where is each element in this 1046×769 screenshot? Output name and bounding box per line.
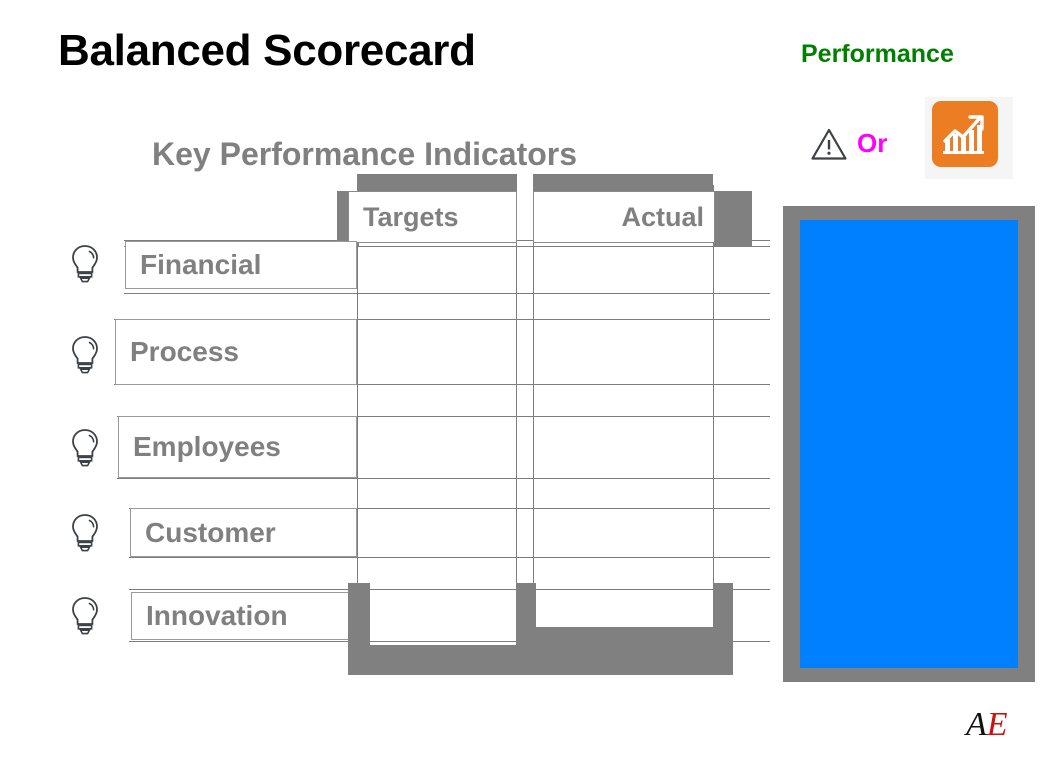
balanced-scorecard-slide: Balanced Scorecard Performance Key Perfo…: [0, 0, 1046, 769]
logo-letter-e: E: [987, 706, 1008, 743]
logo: AE: [966, 708, 1008, 742]
header-accent-bar-actual: [533, 174, 713, 191]
column-header-actual: Actual: [533, 191, 715, 243]
header-accent-bar-targets: [357, 174, 517, 191]
cell-employees-actual[interactable]: [533, 416, 713, 478]
lightbulb-icon: [70, 334, 100, 376]
blue-panel[interactable]: [800, 220, 1018, 668]
row-label-process: Process: [115, 319, 357, 385]
grid-line: [124, 293, 770, 294]
row-label-customer: Customer: [130, 508, 357, 557]
lightbulb-icon: [70, 512, 100, 554]
footer-accent-bar-inner: [536, 627, 713, 645]
cell-process-actual[interactable]: [533, 319, 713, 384]
cell-customer-targets[interactable]: [357, 508, 516, 557]
blue-panel-frame: [783, 206, 1035, 682]
header-accent-bar-right: [713, 191, 752, 247]
or-label: Or: [857, 128, 887, 159]
grid-line: [713, 185, 714, 641]
warning-triangle-icon: [810, 127, 848, 161]
grid-line: [117, 478, 770, 479]
cell-process-targets[interactable]: [357, 319, 516, 384]
grid-line: [129, 589, 770, 590]
performance-label: Performance: [801, 40, 954, 69]
column-header-targets: Targets: [348, 191, 517, 243]
cell-financial-targets[interactable]: [357, 246, 516, 293]
cell-customer-actual[interactable]: [533, 508, 713, 557]
grid-line: [516, 185, 517, 641]
growth-chart-icon[interactable]: [932, 101, 998, 167]
grid-line: [129, 557, 770, 558]
lightbulb-icon: [70, 427, 100, 469]
cell-innovation-targets[interactable]: [357, 592, 516, 640]
logo-letter-a: A: [966, 706, 987, 743]
row-label-financial: Financial: [125, 241, 357, 289]
row-label-employees: Employees: [118, 416, 357, 478]
footer-accent-bar-bottom: [348, 645, 733, 675]
row-label-innovation: Innovation: [131, 592, 357, 640]
lightbulb-icon: [70, 595, 100, 637]
lightbulb-icon: [70, 243, 100, 285]
cell-employees-targets[interactable]: [357, 416, 516, 478]
page-title: Balanced Scorecard: [58, 26, 476, 76]
cell-financial-actual[interactable]: [533, 246, 713, 293]
kpi-section-title: Key Performance Indicators: [152, 136, 577, 173]
